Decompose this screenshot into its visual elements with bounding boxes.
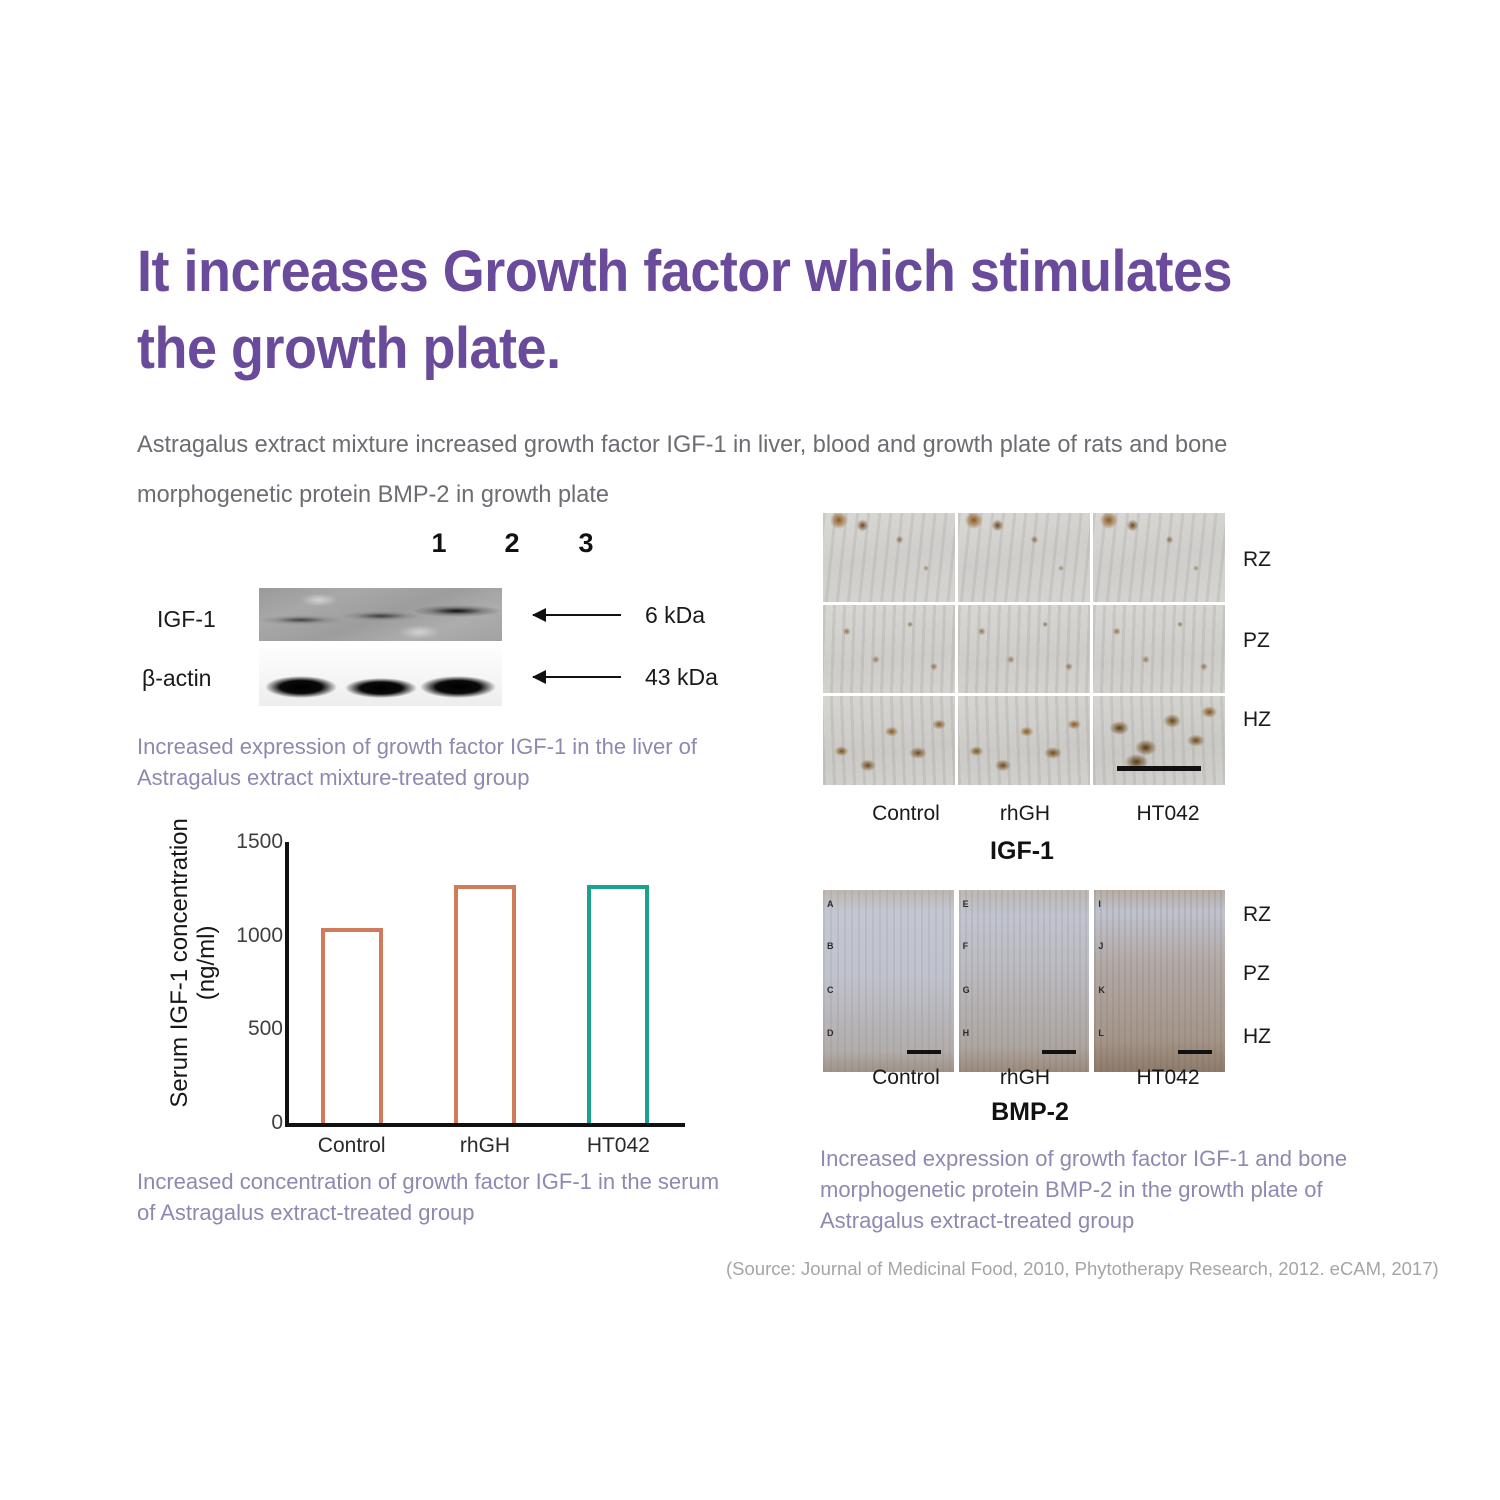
scale-bar-icon	[1117, 766, 1201, 771]
bmp2-inset-letter-i: I	[1098, 899, 1101, 909]
blot-lane-numbers: 1 2 3	[395, 528, 635, 558]
chart-x-tick-ht042: HT042	[548, 1134, 688, 1158]
bmp2-inset-letter-k: K	[1098, 985, 1105, 995]
histology-tile-ht042-rz	[1093, 513, 1225, 602]
histology-tile-rhgh-rz	[958, 513, 1090, 602]
chart-bar-ht042	[587, 885, 649, 1123]
bmp2-inset-letter-e: E	[963, 899, 969, 909]
histology-igf1-col-label-rhgh: rhGH	[945, 802, 1105, 826]
chart-bar-rhgh	[454, 885, 516, 1123]
chart-y-tick-1500: 1500	[183, 830, 283, 854]
histology-bmp2-tile-ht042: I J K L	[1094, 890, 1225, 1072]
blot-row-label-beta-actin: β-actin	[142, 665, 211, 692]
bmp2-inset-letter-c: C	[827, 985, 834, 995]
left-arrow-icon	[533, 614, 621, 616]
bmp2-inset-letter-a: A	[827, 899, 834, 909]
bmp2-inset-letter-f: F	[963, 941, 969, 951]
blot-gel-igf1	[259, 588, 502, 641]
chart-x-tick-control: Control	[282, 1134, 422, 1158]
histology-igf1-col-label-ht042: HT042	[1088, 802, 1248, 826]
chart-plot-area: 050010001500ControlrhGHHT042	[285, 842, 685, 1127]
histology-bmp2-col-label-rhgh: rhGH	[945, 1066, 1105, 1090]
chart-y-tick-1000: 1000	[183, 924, 283, 948]
chart-y-tick-0: 0	[183, 1111, 283, 1135]
histology-igf1-row-label-rz: RZ	[1243, 548, 1271, 572]
chart-bar-control	[321, 928, 383, 1123]
scale-bar-icon	[1178, 1050, 1212, 1054]
chart-y-axis-title: Serum IGF-1 concentration (ng/ml)	[167, 813, 221, 1113]
histology-igf1-panel-title: IGF-1	[922, 837, 1122, 866]
histology-bmp2-panel-title: BMP-2	[930, 1098, 1130, 1127]
page-subtitle: Astragalus extract mixture increased gro…	[137, 420, 1356, 520]
bar-chart-caption: Increased concentration of growth factor…	[137, 1166, 737, 1228]
blot-gel-beta-actin	[259, 648, 502, 706]
bmp2-inset-letter-g: G	[963, 985, 970, 995]
blot-lane-1-label: 1	[424, 528, 454, 559]
histology-bmp2-tile-rhgh: E F G H	[959, 890, 1090, 1072]
histology-tile-ht042-pz	[1093, 605, 1225, 694]
chart-y-axis-title-line1: Serum IGF-1 concentration	[167, 813, 194, 1113]
western-blot-caption: Increased expression of growth factor IG…	[137, 731, 742, 793]
histology-tile-control-pz	[823, 605, 955, 694]
histology-igf1-row-label-hz: HZ	[1243, 708, 1271, 732]
blot-lane-3-label: 3	[571, 528, 601, 559]
left-arrow-icon	[533, 676, 621, 678]
histology-bmp2-row-label-hz: HZ	[1243, 1025, 1271, 1049]
histology-tile-control-rz	[823, 513, 955, 602]
bmp2-inset-letter-b: B	[827, 941, 834, 951]
bmp2-inset-letter-h: H	[963, 1028, 970, 1038]
chart-x-tick-rhgh: rhGH	[415, 1134, 555, 1158]
slide-canvas: It increases Growth factor which stimula…	[0, 0, 1500, 1500]
histology-tile-rhgh-pz	[958, 605, 1090, 694]
scale-bar-icon	[907, 1050, 941, 1054]
blot-kda-label-6: 6 kDa	[645, 602, 705, 629]
chart-y-tick-500: 500	[183, 1017, 283, 1041]
histology-igf1-row-label-pz: PZ	[1243, 629, 1270, 653]
chart-y-axis-line	[285, 842, 289, 1127]
page-title: It increases Growth factor which stimula…	[137, 233, 1290, 387]
histology-caption: Increased expression of growth factor IG…	[820, 1143, 1420, 1237]
histology-tile-control-hz	[823, 696, 955, 785]
histology-bmp2-row-label-pz: PZ	[1243, 962, 1270, 986]
blot-row-label-igf1: IGF-1	[157, 606, 216, 633]
histology-bmp2-grid: A B C D E F G H I J K L	[823, 890, 1225, 1072]
histology-bmp2-col-label-ht042: HT042	[1088, 1066, 1248, 1090]
blot-kda-label-43: 43 kDa	[645, 664, 718, 691]
histology-bmp2-tile-control: A B C D	[823, 890, 954, 1072]
blot-lane-2-label: 2	[497, 528, 527, 559]
scale-bar-icon	[1042, 1050, 1076, 1054]
bmp2-inset-letter-d: D	[827, 1028, 834, 1038]
bmp2-inset-letter-l: L	[1098, 1028, 1104, 1038]
western-blot-figure: 1 2 3 IGF-1 β-actin 6 kDa 43 kDa	[137, 528, 737, 713]
bmp2-inset-letter-j: J	[1098, 941, 1103, 951]
chart-y-axis-title-line2: (ng/ml)	[194, 813, 221, 1113]
histology-tile-ht042-hz	[1093, 696, 1225, 785]
histology-igf1-grid	[823, 513, 1225, 785]
histology-bmp2-row-label-rz: RZ	[1243, 903, 1271, 927]
source-citation: (Source: Journal of Medicinal Food, 2010…	[726, 1258, 1439, 1280]
chart-x-axis-line	[285, 1123, 685, 1127]
serum-igf1-bar-chart: Serum IGF-1 concentration (ng/ml) 050010…	[137, 828, 717, 1148]
histology-tile-rhgh-hz	[958, 696, 1090, 785]
